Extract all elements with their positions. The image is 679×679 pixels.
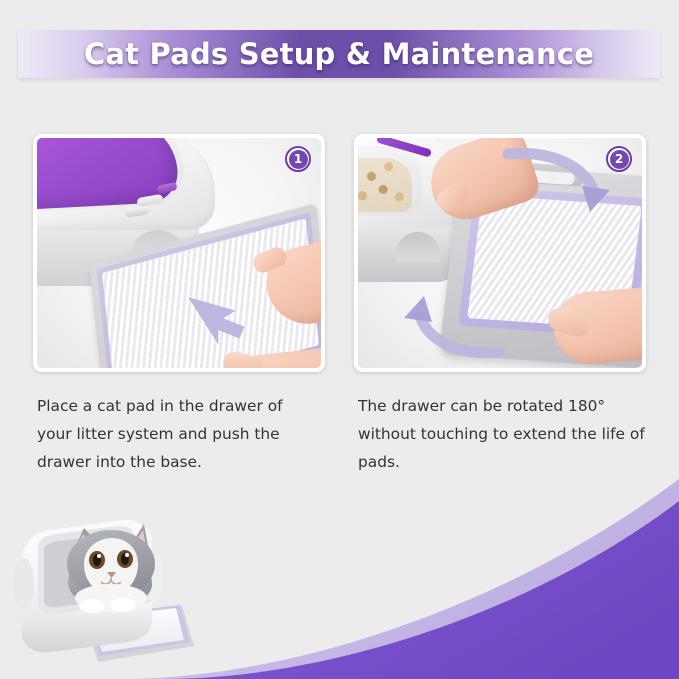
step-number-1: 1 <box>289 150 308 169</box>
step-2-caption: The drawer can be rotated 180° without t… <box>358 392 650 476</box>
cat-paw-left <box>79 599 105 613</box>
step-1-panel: 1 <box>33 134 325 372</box>
header-banner: Cat Pads Setup & Maintenance <box>18 30 660 78</box>
step-2-illustration: 2 <box>358 138 642 368</box>
step-2-panel: 2 <box>354 134 646 372</box>
cat <box>67 524 155 613</box>
litter-pellets <box>358 158 412 212</box>
page-title: Cat Pads Setup & Maintenance <box>84 37 594 71</box>
step-badge-2: 2 <box>606 146 632 172</box>
step-1-caption: Place a cat pad in the drawer of your li… <box>37 392 319 476</box>
cat-paw-right <box>110 598 136 612</box>
step-number-2: 2 <box>610 150 629 169</box>
steps-gallery: 1 <box>33 134 646 372</box>
step-badge-1: 1 <box>285 146 311 172</box>
hero-cat-in-litter-box <box>6 506 228 674</box>
product-infographic: Cat Pads Setup & Maintenance <box>0 0 679 679</box>
step-1-illustration: 1 <box>37 138 321 368</box>
